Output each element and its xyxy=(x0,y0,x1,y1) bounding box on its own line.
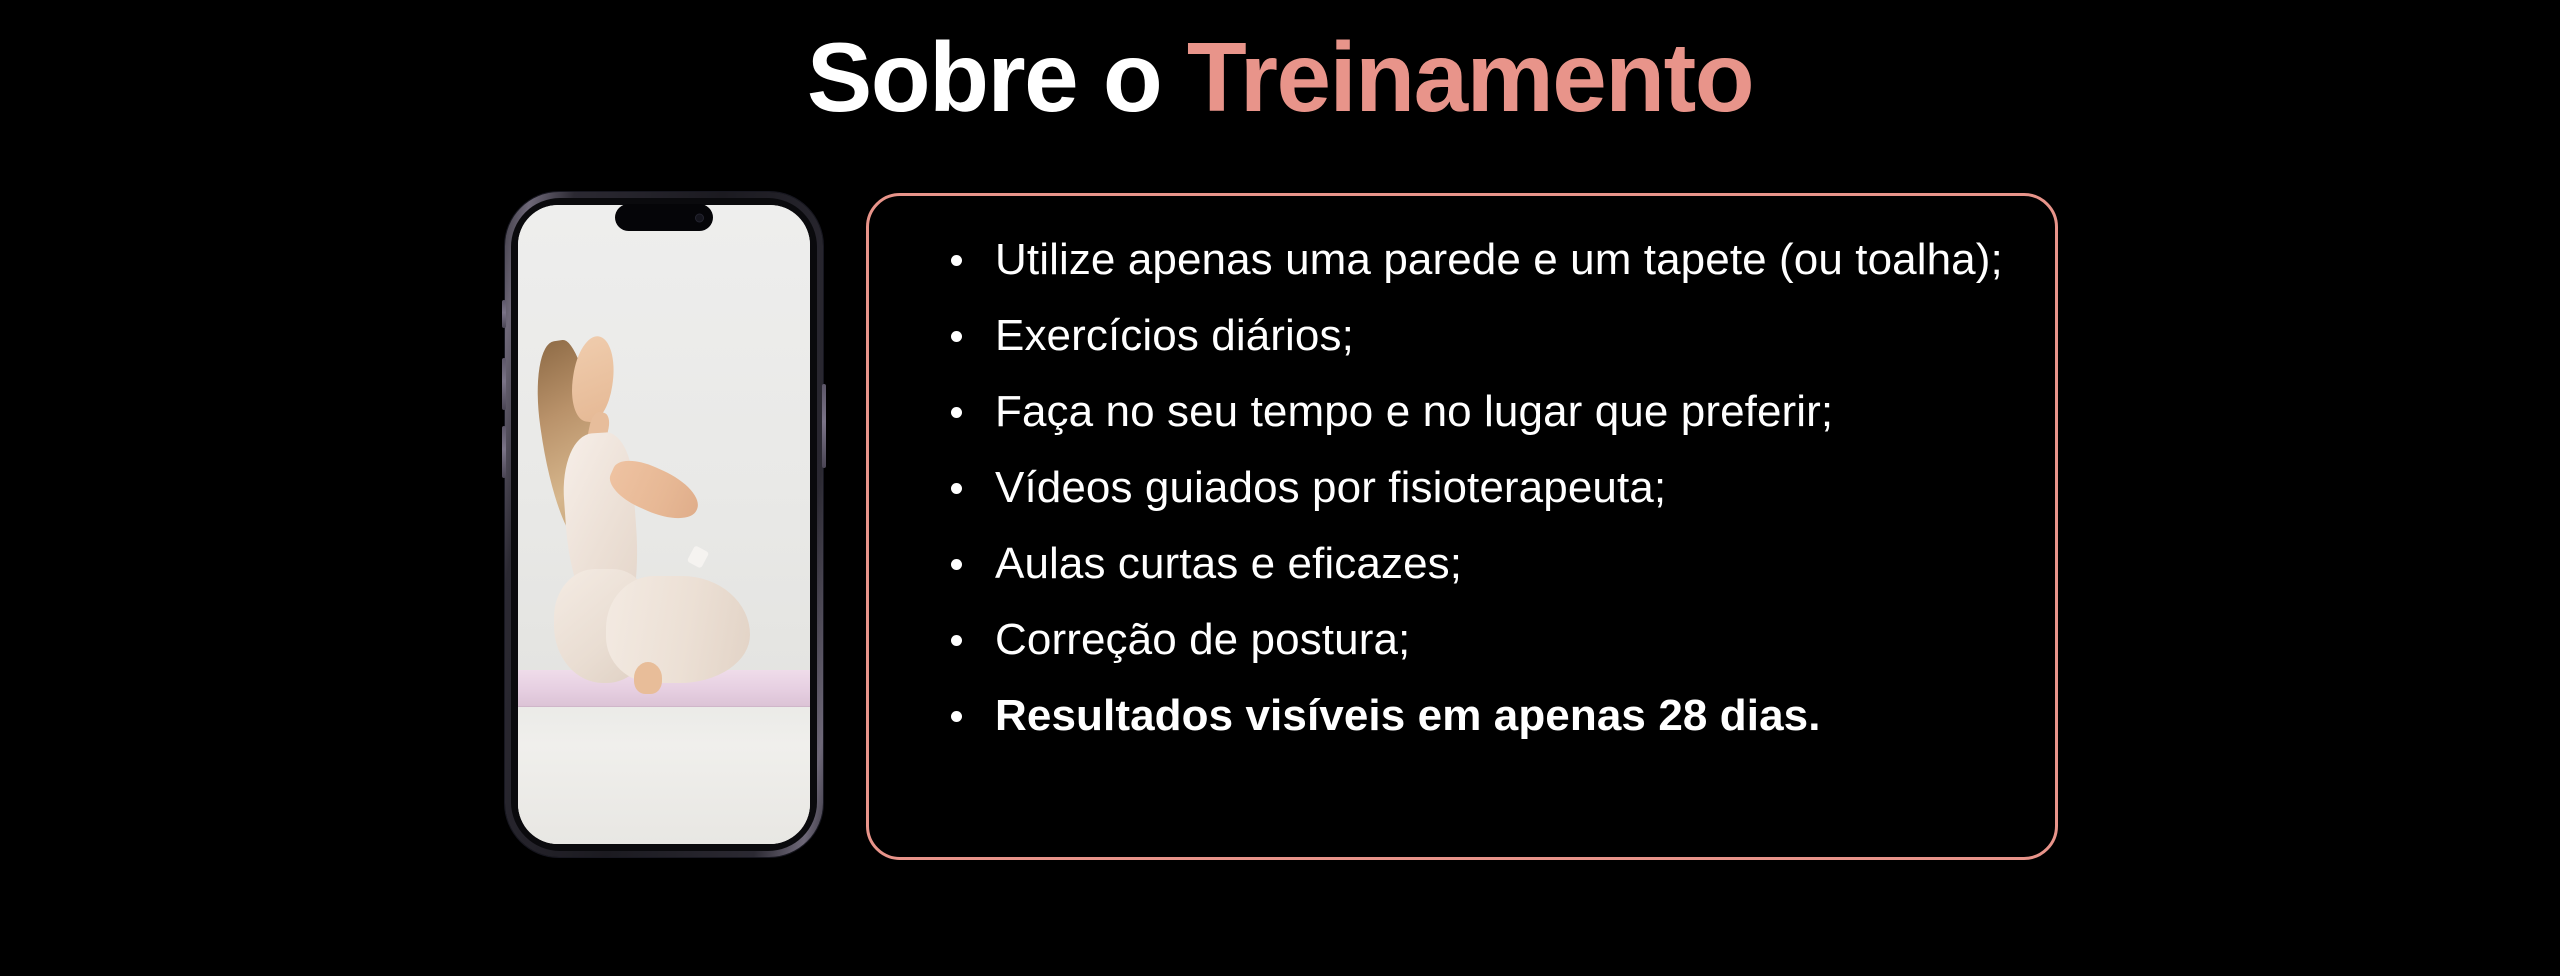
features-list: Utilize apenas uma parede e um tapete (o… xyxy=(943,224,2015,756)
figure-foot xyxy=(634,662,662,694)
list-item: Correção de postura; xyxy=(943,604,2015,676)
content-stage: Utilize apenas uma parede e um tapete (o… xyxy=(0,0,2560,976)
list-item-highlight: Resultados visíveis em apenas 28 dias. xyxy=(943,680,2015,752)
figure-wristwatch xyxy=(686,545,709,568)
list-item: Utilize apenas uma parede e um tapete (o… xyxy=(943,224,2015,296)
phone-mockup xyxy=(505,192,823,857)
figure-head xyxy=(567,334,618,425)
figure-legs xyxy=(606,576,751,683)
volume-down-button[interactable] xyxy=(502,426,506,478)
features-card: Utilize apenas uma parede e um tapete (o… xyxy=(866,193,2058,860)
mute-switch[interactable] xyxy=(502,300,506,328)
front-camera-icon xyxy=(695,213,704,222)
list-item: Vídeos guiados por fisioterapeuta; xyxy=(943,452,2015,524)
phone-screen xyxy=(518,205,810,844)
dynamic-island-notch xyxy=(615,204,713,231)
list-item: Exercícios diários; xyxy=(943,300,2015,372)
power-button[interactable] xyxy=(822,384,826,468)
woman-figure xyxy=(536,333,770,691)
volume-up-button[interactable] xyxy=(502,358,506,410)
list-item: Faça no seu tempo e no lugar que preferi… xyxy=(943,376,2015,448)
list-item: Aulas curtas e eficazes; xyxy=(943,528,2015,600)
